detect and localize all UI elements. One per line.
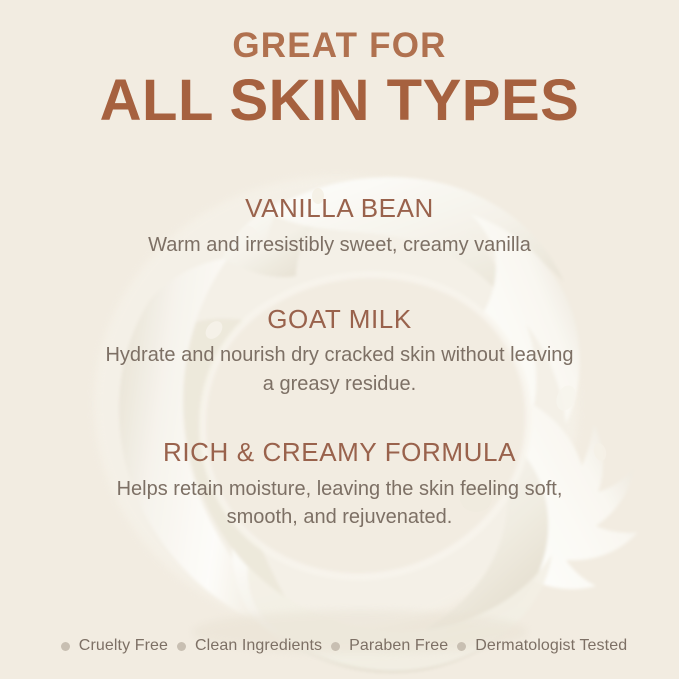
headline-line-2: ALL SKIN TYPES bbox=[0, 69, 679, 133]
benefits-list: VANILLA BEAN Warm and irresistibly sweet… bbox=[0, 192, 679, 557]
claim-dermatologist-tested: Dermatologist Tested bbox=[475, 637, 627, 655]
headline-line-1: GREAT FOR bbox=[0, 28, 679, 65]
bullet-dot-icon bbox=[457, 642, 466, 651]
bullet-dot-icon bbox=[331, 642, 340, 651]
headline-block: GREAT FOR ALL SKIN TYPES bbox=[0, 28, 679, 133]
benefit-description: Hydrate and nourish dry cracked skin wit… bbox=[102, 341, 577, 398]
claim-cruelty-free: Cruelty Free bbox=[79, 637, 168, 655]
benefit-title: GOAT MILK bbox=[0, 303, 679, 336]
bullet-dot-icon bbox=[61, 642, 70, 651]
benefit-item-rich-creamy-formula: RICH & CREAMY FORMULA Helps retain moist… bbox=[0, 436, 679, 531]
benefit-title: VANILLA BEAN bbox=[0, 192, 679, 225]
benefit-item-vanilla-bean: VANILLA BEAN Warm and irresistibly sweet… bbox=[0, 192, 679, 259]
benefit-description: Helps retain moisture, leaving the skin … bbox=[105, 475, 575, 532]
claim-clean-ingredients: Clean Ingredients bbox=[195, 637, 322, 655]
benefit-description: Warm and irresistibly sweet, creamy vani… bbox=[60, 231, 620, 259]
product-benefits-graphic: GREAT FOR ALL SKIN TYPES VANILLA BEAN Wa… bbox=[0, 0, 679, 679]
benefit-title: RICH & CREAMY FORMULA bbox=[0, 436, 679, 469]
bullet-dot-icon bbox=[177, 642, 186, 651]
benefit-item-goat-milk: GOAT MILK Hydrate and nourish dry cracke… bbox=[0, 303, 679, 398]
claim-paraben-free: Paraben Free bbox=[349, 637, 448, 655]
footer-claims: Cruelty Free Clean Ingredients Paraben F… bbox=[0, 637, 679, 655]
